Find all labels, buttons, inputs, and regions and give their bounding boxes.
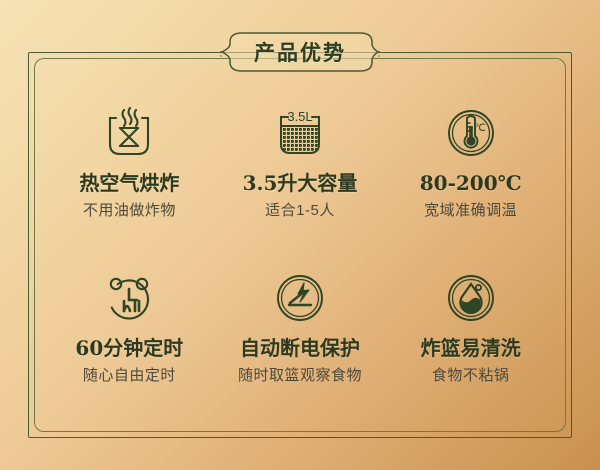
alarm-clock-icon [100,267,158,329]
page-title: 产品优势 [254,37,346,67]
title-banner: 产品优势 [220,30,380,74]
air-fryer-basket-steam-icon [100,102,158,164]
feature-subtitle: 食物不粘锅 [432,367,510,385]
water-drop-clean-icon [442,267,500,329]
feature-title: 60分钟定时 [75,337,183,360]
feature-item: 3.5L 3.5升大容量 适合1-5人 [215,92,386,257]
feature-title: 自动断电保护 [240,337,360,360]
feature-item: 炸篮易清洗 食物不粘锅 [385,257,556,422]
feature-subtitle: 随时取篮观察食物 [238,367,362,385]
capacity-icon-label: 3.5L [287,109,312,124]
thermometer-icon: ℃ [442,102,500,164]
product-advantages-poster: 产品优势 热空气烘炸 不用油做炸物 [0,0,600,470]
celsius-icon-label: ℃ [474,123,485,134]
feature-subtitle: 不用油做炸物 [83,202,176,220]
feature-item: 热空气烘炸 不用油做炸物 [44,92,215,257]
power-cut-lightning-icon [271,267,329,329]
feature-subtitle: 随心自由定时 [83,367,176,385]
feature-subtitle: 宽域准确调温 [424,202,517,220]
feature-title: 热空气烘炸 [79,172,179,195]
feature-title: 3.5升大容量 [243,172,358,195]
feature-title: 80-200℃ [420,172,522,195]
feature-subtitle: 适合1-5人 [265,202,335,220]
feature-title: 炸篮易清洗 [421,337,521,360]
feature-item: ℃ 80-200℃ 宽域准确调温 [385,92,556,257]
feature-item: 60分钟定时 随心自由定时 [44,257,215,422]
capacity-basket-icon: 3.5L [271,102,329,164]
feature-item: 自动断电保护 随时取篮观察食物 [215,257,386,422]
poster-title-area: 产品优势 [0,28,600,76]
features-grid: 热空气烘炸 不用油做炸物 3.5L [44,92,556,422]
